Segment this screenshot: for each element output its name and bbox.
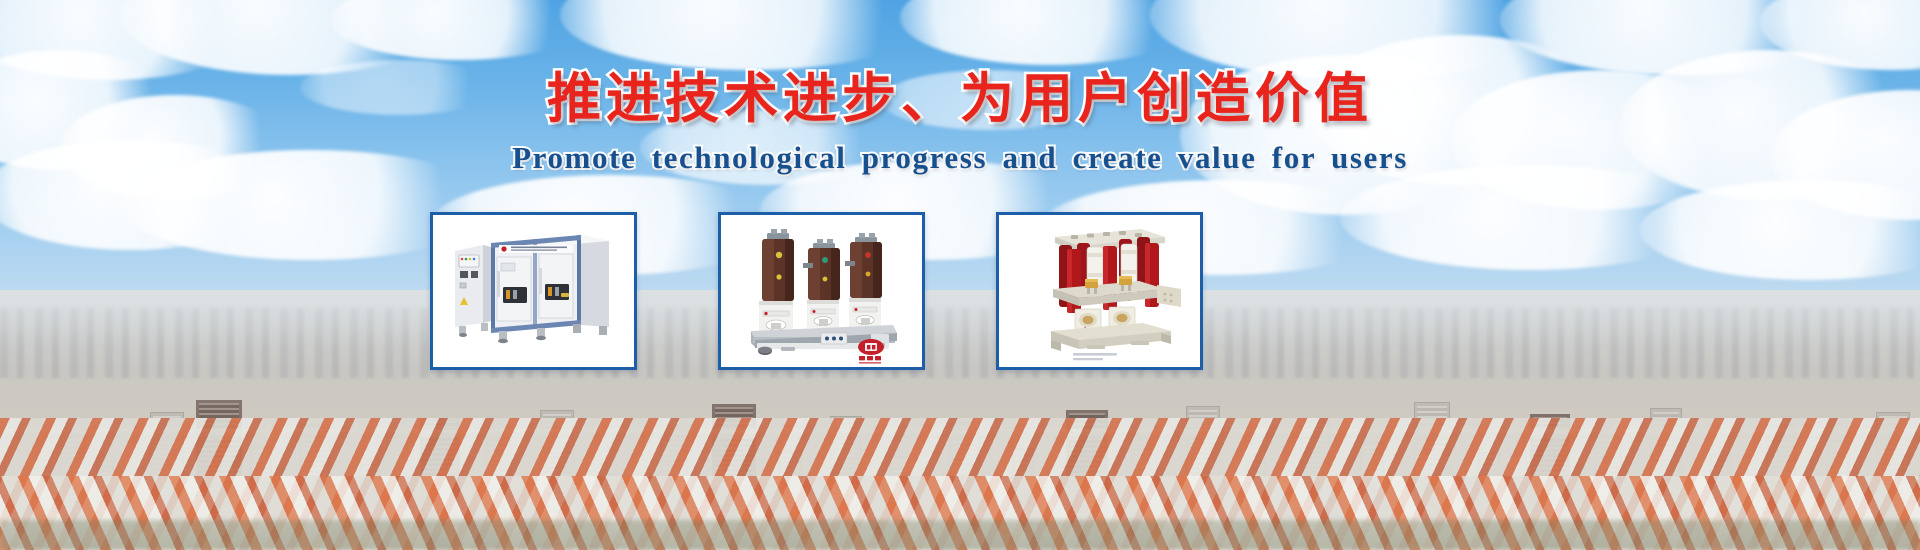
headline-chinese: 推进技术进步、为用户创造价值 <box>0 54 1920 133</box>
product-image-switchgear-cabinet <box>433 215 634 367</box>
product-image-vacuum-contactor <box>999 215 1200 367</box>
product-card-vacuum-circuit-breaker[interactable] <box>718 212 925 370</box>
promo-banner: 推进技术进步、为用户创造价值 Promote technological pro… <box>0 0 1920 550</box>
tree-belt <box>0 520 1920 550</box>
product-image-vacuum-circuit-breaker <box>721 215 922 367</box>
product-card-switchgear-cabinet[interactable] <box>430 212 637 370</box>
subtitle-english: Promote technological progress and creat… <box>0 140 1920 176</box>
product-card-row <box>0 212 1920 364</box>
product-card-vacuum-contactor[interactable] <box>996 212 1203 370</box>
